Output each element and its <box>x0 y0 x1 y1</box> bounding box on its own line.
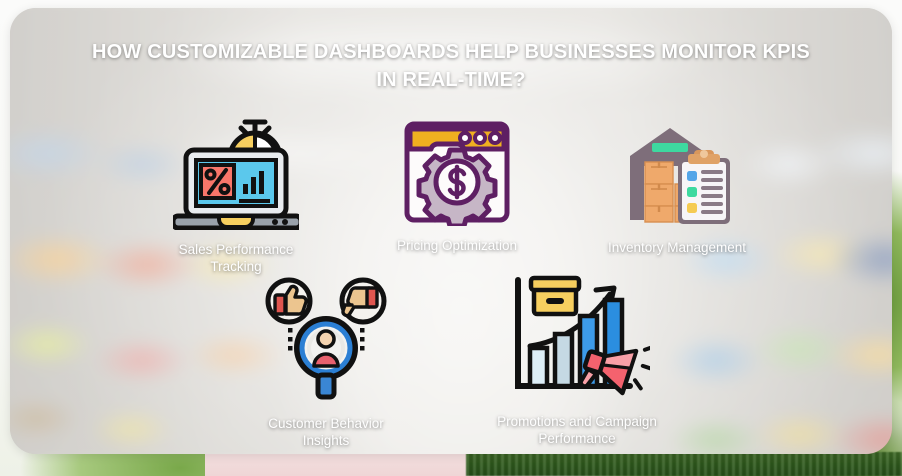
item-label: Pricing Optimization <box>376 237 538 254</box>
browser-gear-dollar-icon <box>376 118 538 231</box>
title-line-2: IN REAL-TIME? <box>376 69 525 91</box>
warehouse-clipboard-icon <box>596 120 758 233</box>
item-sales-performance-tracking[interactable]: Sales Performance Tracking <box>156 114 316 275</box>
item-pricing-optimization[interactable]: Pricing Optimization <box>376 118 538 254</box>
item-inventory-management[interactable]: Inventory Management <box>596 120 758 256</box>
item-label: Customer Behavior Insights <box>246 415 406 449</box>
item-label: Promotions and Campaign Performance <box>486 413 668 447</box>
page-title: HOW CUSTOMIZABLE DASHBOARDS HELP BUSINES… <box>10 38 892 94</box>
infographic-card: HOW CUSTOMIZABLE DASHBOARDS HELP BUSINES… <box>10 8 892 454</box>
bottom-photo-strip-left <box>205 452 467 476</box>
laptop-stopwatch-icon <box>156 114 316 235</box>
item-promotions-campaign-performance[interactable]: Promotions and Campaign Performance <box>486 274 668 447</box>
title-line-1: HOW CUSTOMIZABLE DASHBOARDS HELP BUSINES… <box>92 41 810 63</box>
item-label: Sales Performance Tracking <box>156 241 316 275</box>
growth-chart-megaphone-icon <box>486 274 668 407</box>
item-customer-behavior-insights[interactable]: Customer Behavior Insights <box>246 276 406 449</box>
magnifier-person-feedback-icon <box>246 276 406 409</box>
item-label: Inventory Management <box>596 239 758 256</box>
bottom-photo-strip <box>466 452 902 476</box>
